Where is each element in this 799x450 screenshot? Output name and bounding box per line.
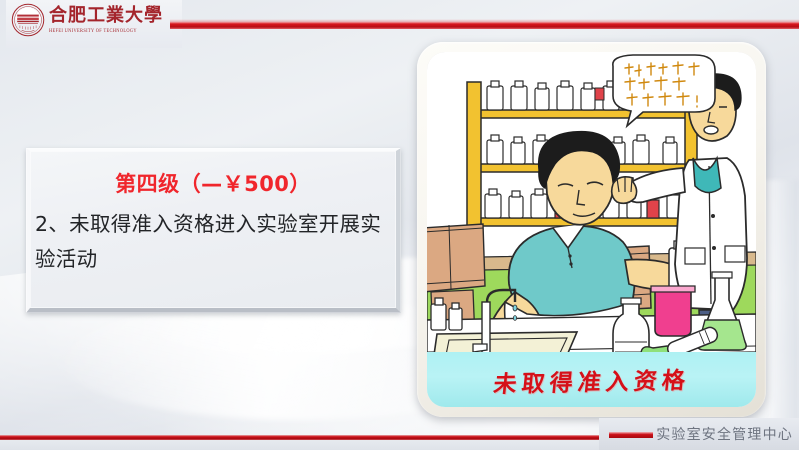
- illustration-canvas: 未取得准入资格: [427, 52, 756, 407]
- logo-row: 合肥工業大學 HEFEI UNIVERSITY OF TECHNOLOGY: [6, 0, 182, 40]
- university-seal-icon: [10, 2, 46, 38]
- logo-text-wrap: 合肥工業大學 HEFEI UNIVERSITY OF TECHNOLOGY: [49, 7, 163, 32]
- footer-block: 实验室安全管理中心: [599, 418, 799, 450]
- slide-canvas: 合肥工業大學 HEFEI UNIVERSITY OF TECHNOLOGY 第四…: [0, 0, 799, 450]
- footer-dash-icon: [609, 432, 653, 438]
- illustration-caption-band: 未取得准入资格: [427, 352, 756, 407]
- university-logo: 合肥工業大學 HEFEI UNIVERSITY OF TECHNOLOGY: [6, 0, 182, 48]
- panel-title: 第四级（—￥500）: [30, 168, 396, 198]
- panel-body-text: 2、未取得准入资格进入实验室开展实验活动: [30, 207, 396, 278]
- header-red-rule: [170, 22, 799, 29]
- illustration-frame: 未取得准入资格: [417, 42, 766, 417]
- illustration-caption-text: 未取得准入资格: [492, 360, 692, 398]
- logo-chinese-name: 合肥工業大學: [49, 7, 163, 25]
- footer-organization-name: 实验室安全管理中心: [656, 424, 799, 444]
- content-text-panel: 第四级（—￥500） 2、未取得准入资格进入实验室开展实验活动: [26, 148, 401, 313]
- logo-english-name: HEFEI UNIVERSITY OF TECHNOLOGY: [49, 28, 163, 34]
